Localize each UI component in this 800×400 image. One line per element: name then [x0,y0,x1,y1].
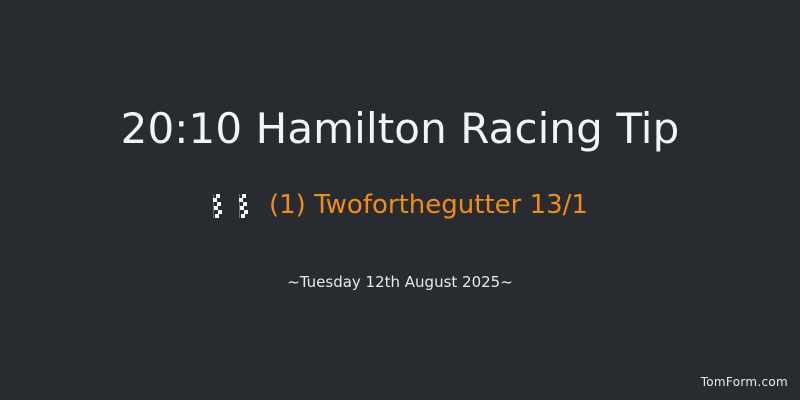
tip-selection-text: (1) Twoforthegutter 13/1 [269,189,588,221]
site-watermark: TomForm.com [701,375,788,390]
tip-row: (1) Twoforthegutter 13/1 [0,189,800,221]
race-date: ~Tuesday 12th August 2025~ [0,272,800,292]
checkered-flag-icon-left [212,193,225,218]
checkered-flag-icon-right [238,193,251,218]
page-title: 20:10 Hamilton Racing Tip [0,103,800,155]
racing-tip-card: 20:10 Hamilton Racing Tip (1) Twofortheg… [0,0,800,400]
